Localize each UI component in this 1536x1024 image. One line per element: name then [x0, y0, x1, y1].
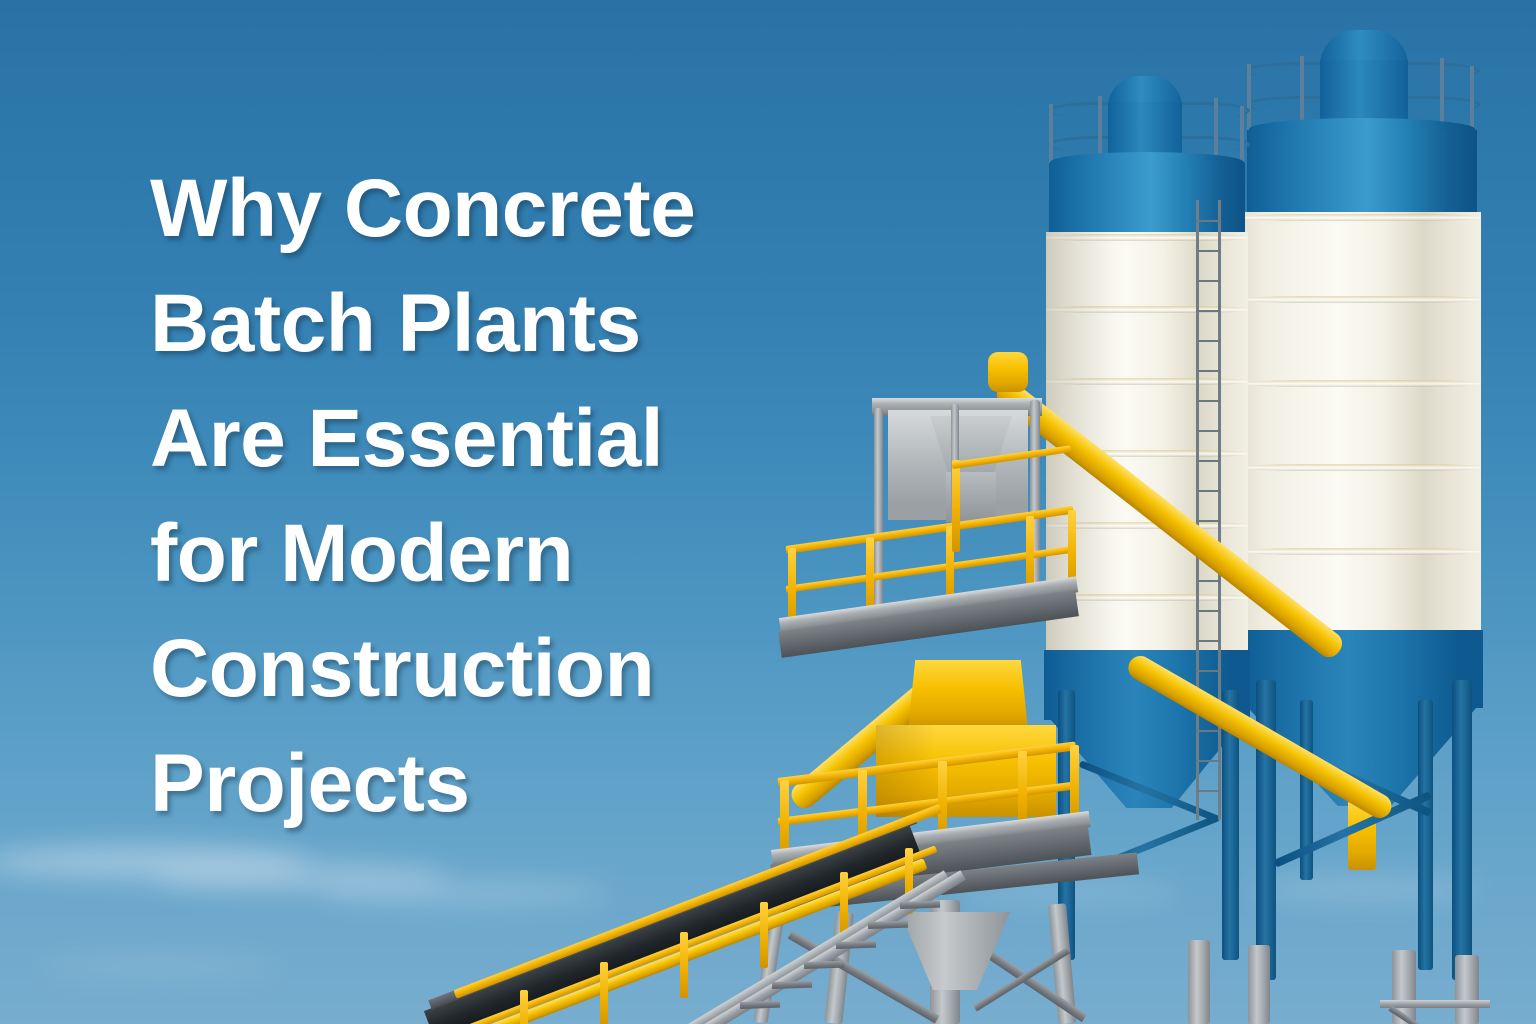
page-title: Why ConcreteBatch PlantsAre Essentialfor… — [150, 151, 850, 841]
headline-line-1: Why Concrete — [150, 151, 850, 266]
headline-line-4: for Modern — [150, 496, 850, 611]
headline-line-3: Are Essential — [150, 381, 850, 496]
headline-line-5: Construction — [150, 611, 850, 726]
headline-line-6: Projects — [150, 726, 850, 841]
headline-line-2: Batch Plants — [150, 266, 850, 381]
banner-image: Why ConcreteBatch PlantsAre Essentialfor… — [0, 0, 1536, 1024]
